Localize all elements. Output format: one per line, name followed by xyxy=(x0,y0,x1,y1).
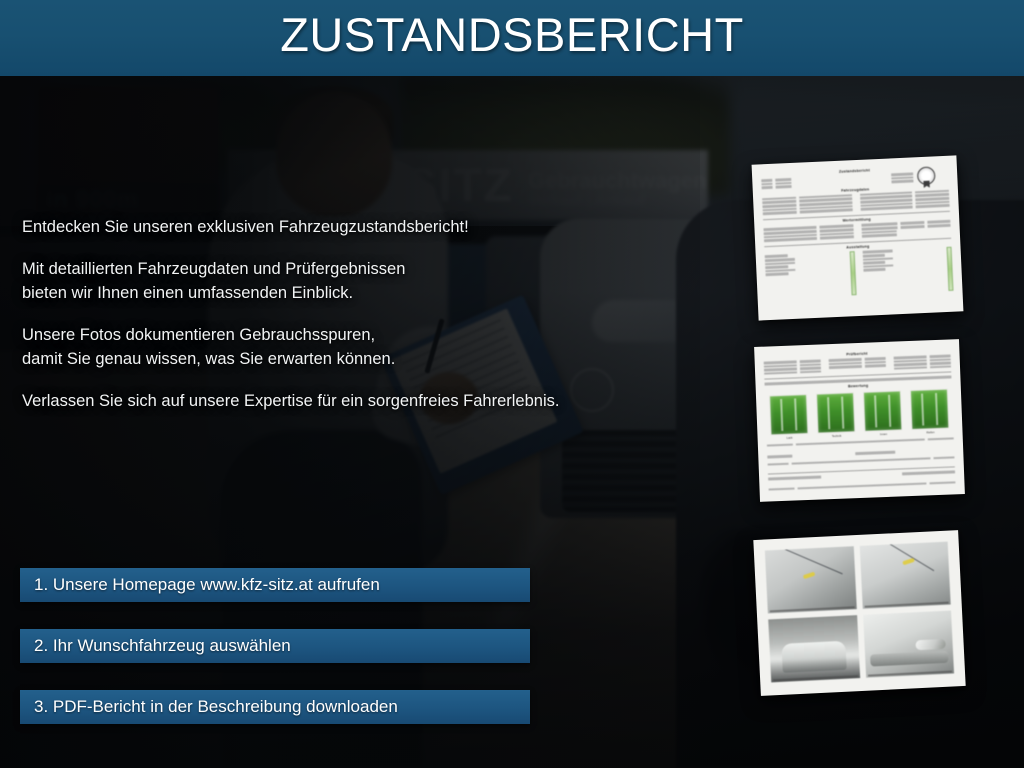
intro-paragraph-4: Verlassen Sie sich auf unsere Expertise … xyxy=(22,390,662,413)
rating-chart-bar-1 xyxy=(769,394,809,435)
damage-photo-3 xyxy=(768,615,859,682)
intro-paragraph-2: Mit detaillierten Fahrzeugdaten und Prüf… xyxy=(22,258,662,305)
intro-paragraph-1: Entdecken Sie unseren exklusiven Fahrzeu… xyxy=(22,216,662,239)
rating-bar-left xyxy=(849,251,856,295)
rating-chart-bar-2 xyxy=(816,392,856,433)
rating-chart: Lack Technik Innen Reifen xyxy=(769,389,950,440)
page-title: ZUSTANDSBERICHT xyxy=(0,10,1024,59)
document-condition-report-content: Zustandsbericht Fahrzeugdaten xyxy=(752,155,964,320)
step-item-1[interactable]: 1. Unsere Homepage www.kfz-sitz.at aufru… xyxy=(20,568,530,602)
slide-root: in 900m SITZ Gebrauchtwagen Verkauf | An… xyxy=(0,0,1024,768)
intro-copy: Entdecken Sie unseren exklusiven Fahrzeu… xyxy=(22,216,662,414)
rating-chart-bar-3 xyxy=(863,390,903,431)
document-inspection-chart[interactable]: Prüfbericht xyxy=(754,339,965,502)
rating-chart-label-2: Technik xyxy=(817,433,855,438)
damage-photo-4 xyxy=(863,611,954,678)
step-item-3[interactable]: 3. PDF-Bericht in der Beschreibung downl… xyxy=(20,690,530,724)
document-damage-photos[interactable] xyxy=(753,530,965,696)
rating-chart-label-1: Lack xyxy=(771,435,809,440)
damage-photo-2 xyxy=(859,542,950,609)
damage-photo-grid xyxy=(765,542,954,683)
damage-photo-1 xyxy=(765,546,856,613)
document-inspection-chart-content: Prüfbericht xyxy=(754,339,965,502)
step-item-2[interactable]: 2. Ihr Wunschfahrzeug auswählen xyxy=(20,629,530,663)
document-condition-report[interactable]: Zustandsbericht Fahrzeugdaten xyxy=(752,155,964,320)
steps-list: 1. Unsere Homepage www.kfz-sitz.at aufru… xyxy=(20,568,530,724)
rating-chart-bar-4 xyxy=(910,388,950,429)
rating-chart-label-3: Innen xyxy=(864,431,902,436)
intro-paragraph-3: Unsere Fotos dokumentieren Gebrauchsspur… xyxy=(22,324,662,371)
rating-chart-label-4: Reifen xyxy=(911,429,949,434)
rating-bar-right xyxy=(947,247,954,291)
header-bar: ZUSTANDSBERICHT xyxy=(0,0,1024,76)
